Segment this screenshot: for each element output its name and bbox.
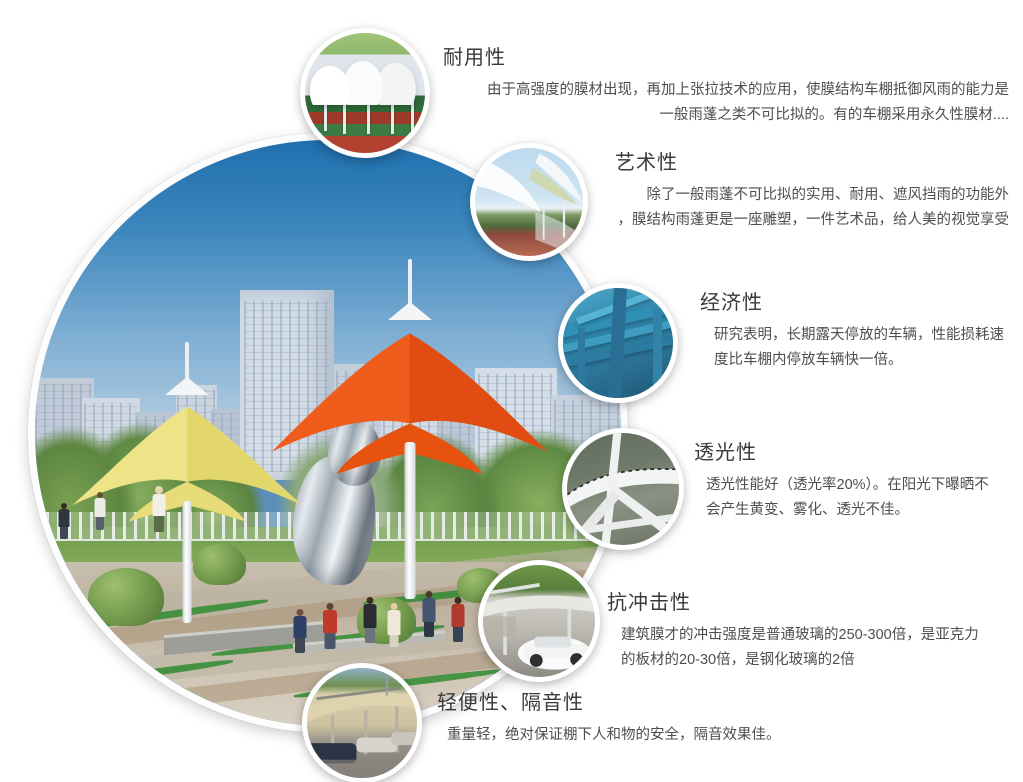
- feature-title: 经济性: [700, 290, 1020, 316]
- feature-title: 抗冲击性: [607, 590, 1017, 616]
- pedestrian: [422, 591, 436, 637]
- blue-steel-canopy-photo: [563, 288, 673, 398]
- pedestrian: [152, 486, 166, 532]
- feature-line: 重量轻，绝对保证棚下人和物的安全，隔音效果佳。: [437, 723, 837, 748]
- feature-image-lightweight-soundproof[interactable]: [302, 663, 422, 782]
- pedestrian: [94, 492, 106, 530]
- feature-title: 透光性: [694, 440, 1023, 466]
- feature-line: 透光性能好（透光率20%）。在阳光下曝晒不: [694, 473, 1023, 498]
- feature-line: 度比车棚内停放车辆快一倍。: [700, 348, 1020, 373]
- beige-carport-rows-photo: [307, 668, 417, 778]
- feature-image-durability[interactable]: [300, 28, 430, 158]
- feature-text-impact-resistance: 抗冲击性 建筑膜才的冲击强度是普通玻璃的250-300倍，是亚克力 的板材的20…: [607, 590, 1017, 674]
- feature-image-economy[interactable]: [558, 283, 678, 403]
- feature-line: ，膜结构雨蓬更是一座雕塑，一件艺术品，给人美的视觉享受: [515, 208, 1009, 233]
- feature-title: 轻便性、隔音性: [437, 690, 837, 716]
- feature-line: 研究表明，长期露天停放的车辆，性能损耗速: [700, 323, 1020, 348]
- feature-line: 会产生黄变、雾化、透光不佳。: [694, 498, 1023, 523]
- feature-text-lightweight-soundproof: 轻便性、隔音性 重量轻，绝对保证棚下人和物的安全，隔音效果佳。: [437, 690, 837, 748]
- pedestrian: [293, 609, 307, 653]
- feature-text-artistry: 艺术性 除了一般雨蓬不可比拟的实用、耐用、遮风挡雨的功能外 ，膜结构雨蓬更是一座…: [515, 150, 1009, 234]
- pedestrian: [363, 597, 377, 643]
- feature-line: 除了一般雨蓬不可比拟的实用、耐用、遮风挡雨的功能外: [515, 183, 1009, 208]
- carport-with-suv-photo: [483, 565, 595, 677]
- orange-tensile-canopy: [269, 281, 550, 551]
- pedestrian: [387, 603, 401, 647]
- feature-line: 一般雨蓬之类不可比拟的。有的车棚采用永久性膜材....: [443, 103, 1009, 128]
- feature-line: 的板材的20-30倍，是钢化玻璃的2倍: [607, 648, 1017, 673]
- feature-title: 耐用性: [443, 45, 1009, 71]
- feature-text-durability: 耐用性 由于高强度的膜材出现，再加上张拉技术的应用，使膜结构车棚抵御风雨的能力是…: [443, 45, 1009, 129]
- infographic-canvas: 耐用性 由于高强度的膜材出现，再加上张拉技术的应用，使膜结构车棚抵御风雨的能力是…: [0, 0, 1023, 782]
- pedestrian: [58, 503, 70, 539]
- feature-text-economy: 经济性 研究表明，长期露天停放的车辆，性能损耗速 度比车棚内停放车辆快一倍。: [700, 290, 1020, 374]
- feature-text-translucency: 透光性 透光性能好（透光率20%）。在阳光下曝晒不 会产生黄变、雾化、透光不佳。: [694, 440, 1023, 524]
- feature-line: 建筑膜才的冲击强度是普通玻璃的250-300倍，是亚克力: [607, 623, 1017, 648]
- pedestrian: [322, 603, 337, 649]
- feature-image-impact-resistance[interactable]: [478, 560, 600, 682]
- feature-image-translucency[interactable]: [562, 428, 684, 550]
- feature-line: 由于高强度的膜材出现，再加上张拉技术的应用，使膜结构车棚抵御风雨的能力是: [443, 78, 1009, 103]
- pedestrian: [451, 597, 465, 642]
- stadium-white-canopy-photo: [305, 33, 425, 153]
- feature-title: 艺术性: [615, 150, 1009, 176]
- white-membrane-closeup-photo: [567, 433, 679, 545]
